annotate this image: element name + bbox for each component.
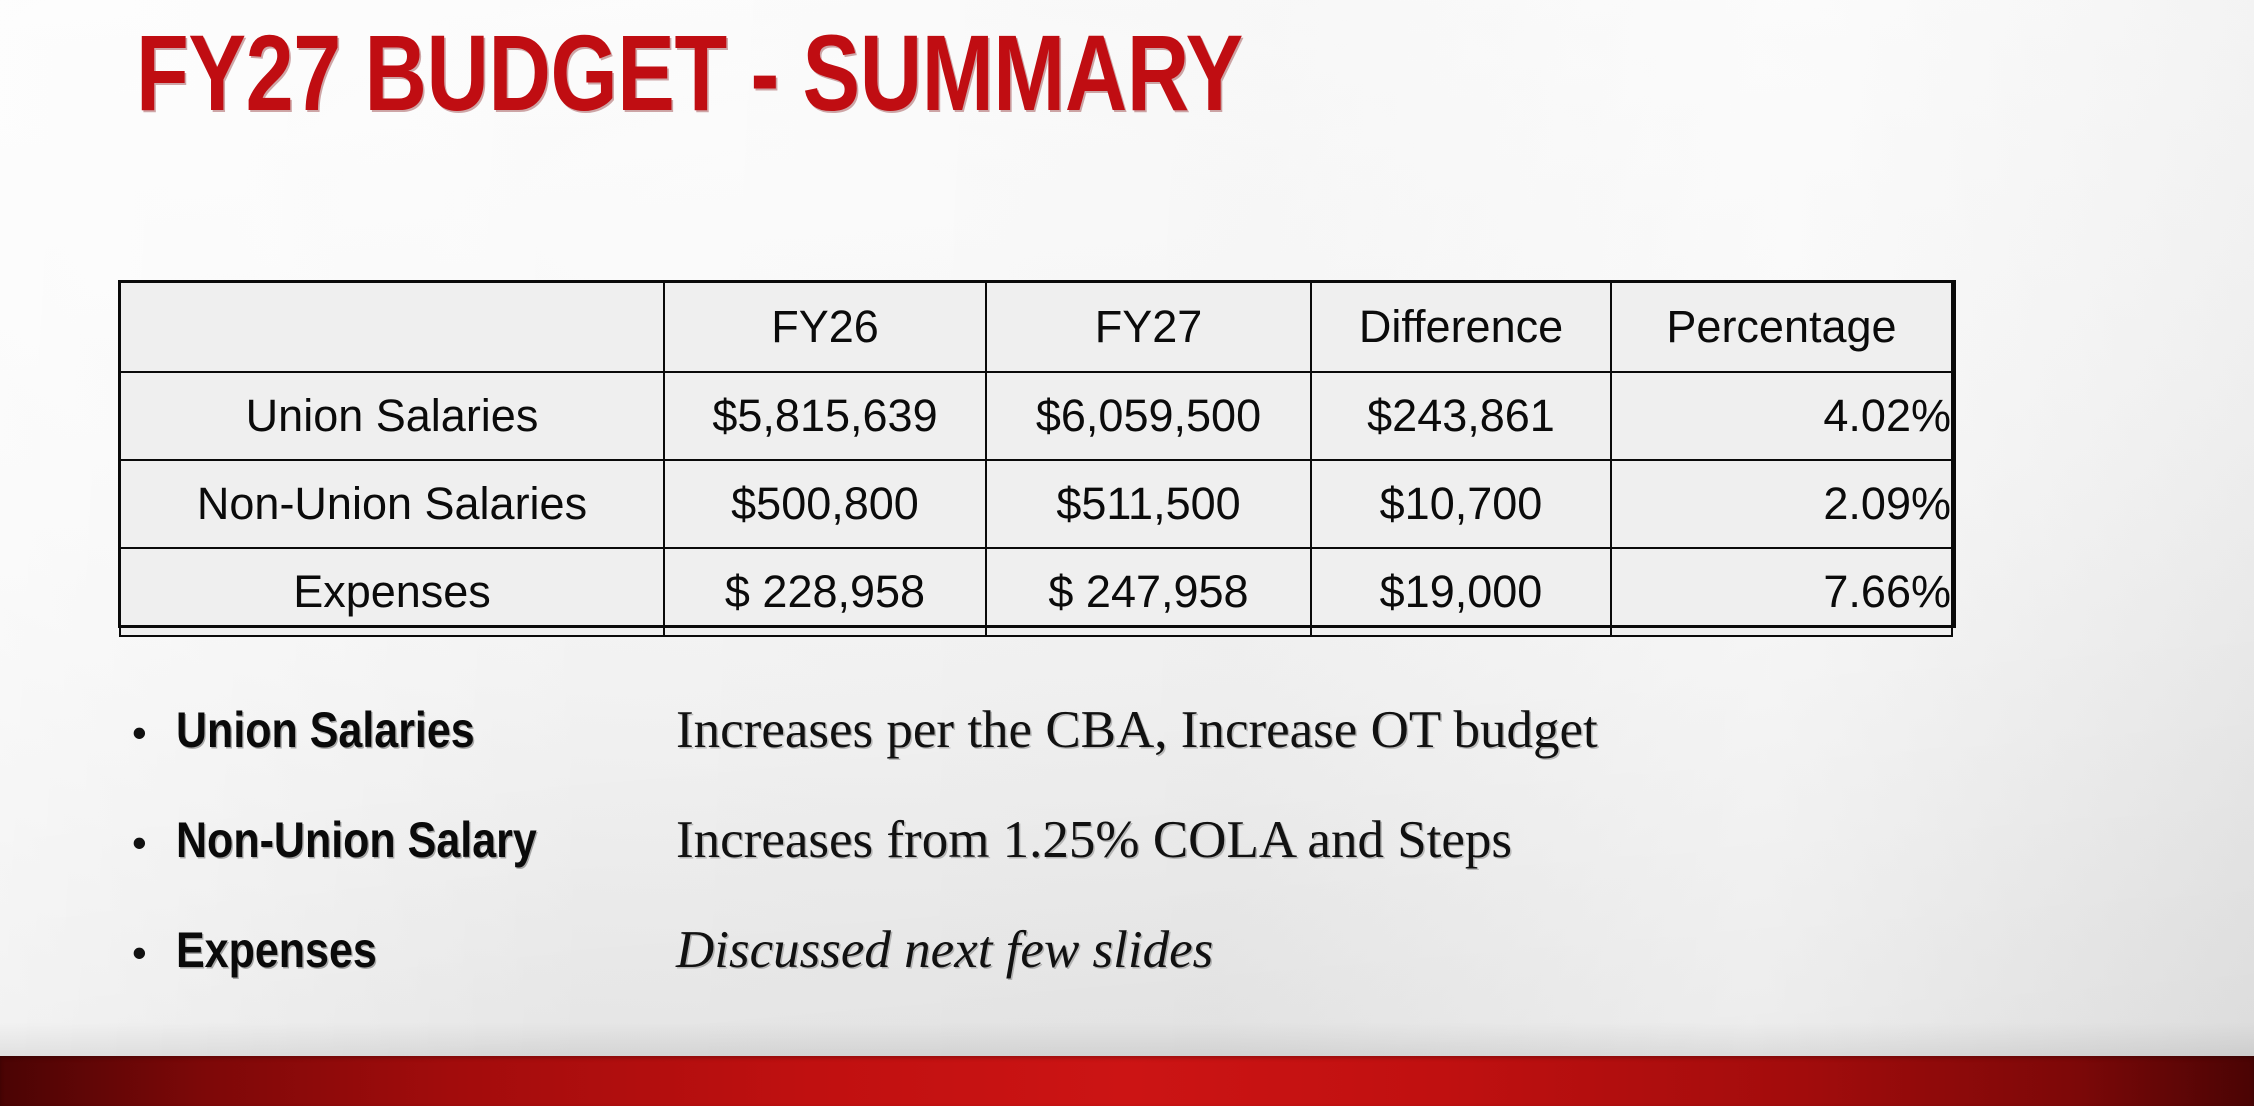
- bullet-list: • Union Salaries Increases per the CBA, …: [132, 700, 2132, 1030]
- table-header-fy26: FY26: [664, 282, 986, 372]
- row-fy26: $ 228,958: [664, 548, 986, 636]
- row-percentage: 7.66%: [1611, 548, 1952, 636]
- table-header-fy27: FY27: [986, 282, 1311, 372]
- bullet-dot-icon: •: [132, 932, 176, 974]
- row-difference: $19,000: [1311, 548, 1611, 636]
- bullet-description-union-salaries: Increases per the CBA, Increase OT budge…: [676, 700, 1598, 760]
- table-header-percentage: Percentage: [1611, 282, 1952, 372]
- table-header-difference: Difference: [1311, 282, 1611, 372]
- table-row: Union Salaries $5,815,639 $6,059,500 $24…: [120, 372, 1952, 460]
- list-item: • Expenses Discussed next few slides: [132, 920, 2132, 1030]
- table-header-row: FY26 FY27 Difference Percentage: [120, 282, 1952, 372]
- row-fy27: $ 247,958: [986, 548, 1311, 636]
- bullet-dot-icon: •: [132, 822, 176, 864]
- budget-table-container: FY26 FY27 Difference Percentage Union Sa…: [119, 281, 1951, 637]
- row-percentage: 4.02%: [1611, 372, 1952, 460]
- row-label: Union Salaries: [120, 372, 664, 460]
- bullet-dot-icon: •: [132, 712, 176, 754]
- page-title: FY27 BUDGET - SUMMARY: [136, 16, 1243, 129]
- footer-accent-bar: [0, 1056, 2254, 1106]
- list-item: • Union Salaries Increases per the CBA, …: [132, 700, 2132, 810]
- bullet-label-expenses: Expenses: [176, 921, 606, 979]
- row-difference: $243,861: [1311, 372, 1611, 460]
- table-row: Expenses $ 228,958 $ 247,958 $19,000 7.6…: [120, 548, 1952, 636]
- slide-canvas: FY27 BUDGET - SUMMARY FY26 FY27 Differen…: [0, 0, 2254, 1106]
- row-percentage: 2.09%: [1611, 460, 1952, 548]
- bullet-description-expenses: Discussed next few slides: [676, 920, 1213, 980]
- table-row: Non-Union Salaries $500,800 $511,500 $10…: [120, 460, 1952, 548]
- table-header-blank: [120, 282, 664, 372]
- bullet-label-non-union-salary: Non-Union Salary: [176, 811, 606, 869]
- row-label: Expenses: [120, 548, 664, 636]
- row-fy26: $500,800: [664, 460, 986, 548]
- bullet-label-union-salaries: Union Salaries: [176, 701, 606, 759]
- budget-table: FY26 FY27 Difference Percentage Union Sa…: [119, 281, 1953, 637]
- list-item: • Non-Union Salary Increases from 1.25% …: [132, 810, 2132, 920]
- row-difference: $10,700: [1311, 460, 1611, 548]
- row-fy27: $6,059,500: [986, 372, 1311, 460]
- bullet-description-non-union-salary: Increases from 1.25% COLA and Steps: [676, 810, 1512, 870]
- row-fy26: $5,815,639: [664, 372, 986, 460]
- row-fy27: $511,500: [986, 460, 1311, 548]
- row-label: Non-Union Salaries: [120, 460, 664, 548]
